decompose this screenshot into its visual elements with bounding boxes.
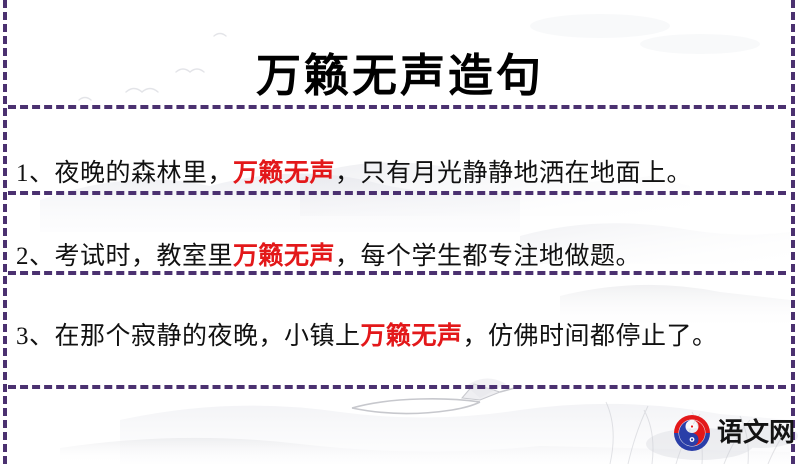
dashed-divider-0 (8, 105, 786, 109)
dashed-vertical-rail-left (3, 0, 7, 464)
dashed-divider-2 (8, 271, 786, 275)
page-title-container: 万籁无声造句 (0, 18, 800, 135)
sentence-item-3: 3、在那个寂静的夜晚，小镇上万籁无声，仿佛时间都停止了。 (16, 314, 784, 359)
sentence-3-keyword: 万籁无声 (361, 321, 463, 350)
site-brand[interactable]: 语文网 (672, 409, 790, 457)
sentence-2-before: 考试时，教室里 (55, 241, 234, 270)
site-brand-name: 语文网 (717, 420, 795, 446)
dashed-vertical-rail-right (791, 0, 795, 464)
sentence-3-after: ，仿佛时间都停止了。 (463, 321, 718, 350)
sentence-2-keyword: 万籁无声 (233, 241, 335, 270)
sentence-2-after: ，每个学生都专注地做题。 (335, 241, 641, 270)
dashed-divider-3 (8, 385, 786, 389)
yinyang-circle-logo-icon (672, 413, 712, 453)
sentence-3-index: 3、 (16, 323, 55, 350)
dashed-divider-1 (8, 191, 786, 195)
sentence-3-before: 在那个寂静的夜晚，小镇上 (55, 321, 361, 350)
sentence-1-after: ，只有月光静静地洒在地面上。 (335, 158, 692, 187)
sentence-2-index: 2、 (16, 243, 55, 270)
sentence-1-index: 1、 (16, 160, 55, 187)
sentence-1-keyword: 万籁无声 (233, 158, 335, 187)
page-title: 万籁无声造句 (256, 48, 544, 104)
sentence-1-before: 夜晚的森林里， (55, 158, 234, 187)
page-root: 万籁无声造句 1、夜晚的森林里，万籁无声，只有月光静静地洒在地面上。 2、考试时… (0, 0, 800, 464)
sentence-item-1: 1、夜晚的森林里，万籁无声，只有月光静静地洒在地面上。 (16, 151, 784, 196)
